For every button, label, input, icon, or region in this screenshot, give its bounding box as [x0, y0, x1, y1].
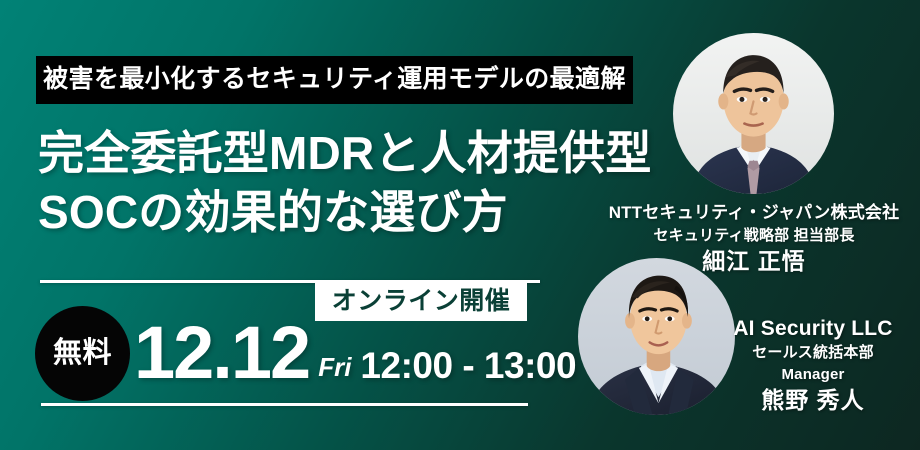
event-date-row: 12.12 Fri 12:00 - 13:00	[134, 316, 576, 390]
speaker-company: AI Security LLC	[712, 315, 914, 342]
headline-line-1: 完全委託型MDRと人材提供型	[38, 124, 658, 183]
speaker-department: セキュリティ戦略部 担当部長	[596, 225, 912, 247]
speaker-title: Manager	[712, 364, 914, 386]
free-badge: 無料	[35, 306, 130, 401]
speaker-name: 熊野 秀人	[712, 386, 914, 416]
event-date: 12.12	[134, 316, 309, 390]
event-time: 12:00 - 13:00	[360, 347, 576, 384]
headline-line-2: SOCの効果的な選び方	[38, 183, 658, 242]
eyebrow-band: 被害を最小化するセキュリティ運用モデルの最適解	[36, 56, 633, 104]
webinar-banner: 被害を最小化するセキュリティ運用モデルの最適解 完全委託型MDRと人材提供型 S…	[0, 0, 920, 450]
speaker-photo-hosoe	[673, 33, 834, 194]
headline: 完全委託型MDRと人材提供型 SOCの効果的な選び方	[38, 124, 658, 242]
divider-bottom	[41, 403, 528, 406]
speaker-department: セールス統括本部	[712, 342, 914, 364]
online-format-tag: オンライン開催	[315, 283, 527, 321]
online-format-tag-label: オンライン開催	[332, 289, 511, 314]
speaker-info-kumano: AI Security LLC セールス統括本部 Manager 熊野 秀人	[712, 315, 914, 416]
event-day-of-week: Fri	[318, 354, 351, 380]
eyebrow-text: 被害を最小化するセキュリティ運用モデルの最適解	[43, 67, 626, 92]
speaker-company: NTTセキュリティ・ジャパン株式会社	[596, 202, 912, 225]
free-badge-label: 無料	[53, 339, 112, 368]
